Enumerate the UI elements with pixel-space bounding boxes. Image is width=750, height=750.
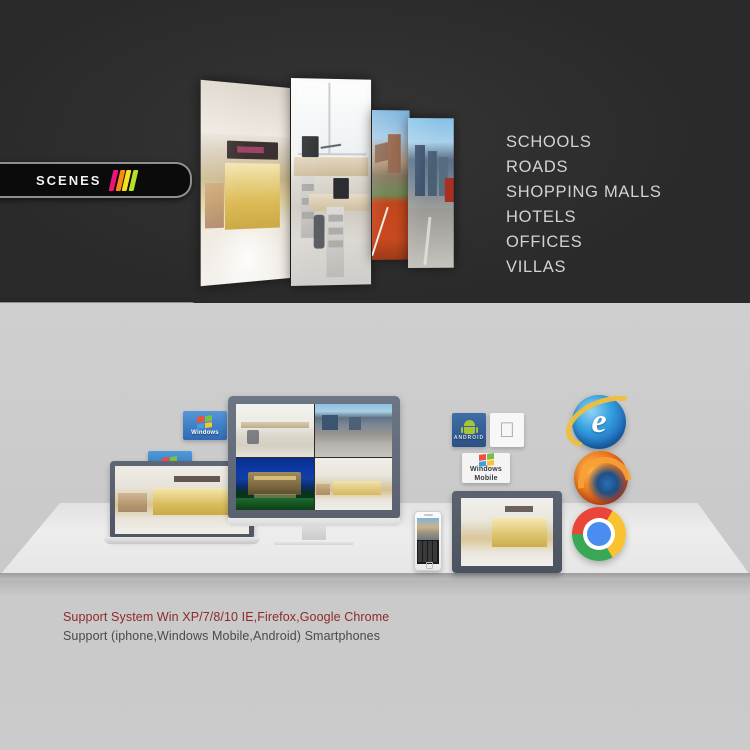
- scenes-ribbon-label: SCENES: [0, 173, 111, 188]
- apple-badge: : [490, 413, 524, 447]
- marketing-infographic: SCHOOLS ROADS SHOPPING MALLS HOTELS OFFI…: [0, 0, 750, 750]
- scene-list-item: VILLAS: [506, 255, 662, 280]
- scene-list-item: SCHOOLS: [506, 130, 662, 155]
- caption-browsers: Support System Win XP/7/8/10 IE,Firefox,…: [63, 608, 389, 627]
- android-robot-icon: [462, 420, 477, 434]
- monitor-chin: [228, 518, 400, 526]
- phone-screen: [417, 518, 439, 564]
- photo-gloss: [201, 80, 290, 286]
- scene-type-list: SCHOOLS ROADS SHOPPING MALLS HOTELS OFFI…: [466, 130, 662, 280]
- laptop-base: [104, 537, 260, 544]
- badge-label: ANDROID: [454, 435, 484, 441]
- monitor-bezel: [228, 396, 400, 518]
- scene-photo-shopping-mall: [201, 80, 290, 286]
- mall-signage: [174, 476, 220, 482]
- phone-video-preview: [417, 518, 439, 540]
- camera-channel-mall: [315, 458, 393, 511]
- badge-label: Windows: [191, 430, 219, 436]
- phone-speaker: [424, 514, 433, 516]
- camera-channel-road: [315, 404, 393, 457]
- monitor-screen-4ch-grid: [236, 404, 392, 510]
- smartphone-device: [414, 511, 442, 571]
- scene-list-item: ROADS: [506, 155, 662, 180]
- camera-channel-villa: [236, 458, 314, 511]
- platform-shadow: [0, 580, 750, 596]
- support-system-section: Windows Windows 7 ANDROID  Windows Mobi…: [0, 303, 750, 750]
- tablet-bezel: [452, 491, 562, 573]
- tablet-screen: [461, 498, 553, 566]
- apple-logo-icon: : [499, 420, 515, 441]
- phone-thumbnail-grid: [418, 541, 438, 562]
- ribbon-accent-bars: [111, 170, 148, 191]
- photo-gloss: [372, 110, 410, 260]
- mall-side-shop: [118, 493, 147, 512]
- monitor-base: [274, 540, 354, 545]
- windows-mobile-badge: Windows Mobile: [462, 453, 510, 483]
- scene-photo-school-track: [372, 110, 410, 260]
- mall-storefront: [492, 518, 547, 547]
- phone-body: [414, 511, 442, 571]
- scene-photo-strip: [196, 76, 456, 286]
- caption-smartphones: Support (iphone,Windows Mobile,Android) …: [63, 627, 389, 646]
- mozilla-firefox-icon: [574, 451, 628, 505]
- platform-edge: [0, 573, 750, 580]
- villa-lawn: [236, 498, 314, 510]
- scenes-ribbon-banner: SCENES: [0, 162, 192, 198]
- villa-building: [248, 472, 301, 495]
- scenes-section: SCHOOLS ROADS SHOPPING MALLS HOTELS OFFI…: [0, 0, 750, 303]
- internet-explorer-icon: e: [572, 395, 626, 449]
- phone-home-button: [426, 562, 433, 569]
- windows-logo-icon: [479, 453, 493, 466]
- scene-list-item: SHOPPING MALLS: [506, 180, 662, 205]
- tablet-device: [452, 491, 562, 573]
- scene-list-item: HOTELS: [506, 205, 662, 230]
- desktop-monitor-device: [228, 396, 400, 536]
- photo-gloss: [291, 78, 371, 286]
- scene-list-item: OFFICES: [506, 230, 662, 255]
- mall-storefront: [153, 488, 236, 515]
- badge-label-line1: Windows: [470, 466, 502, 474]
- camera-channel-office: [236, 404, 314, 457]
- photo-gloss: [408, 118, 454, 268]
- windows-logo-icon: [197, 415, 213, 430]
- google-chrome-icon: [572, 507, 626, 561]
- mall-signage: [505, 506, 533, 511]
- android-badge: ANDROID: [452, 413, 486, 447]
- support-captions: Support System Win XP/7/8/10 IE,Firefox,…: [63, 608, 389, 646]
- windows-xp-badge: Windows: [183, 411, 227, 440]
- badge-label-line2: Mobile: [474, 475, 497, 483]
- scene-photo-city-road: [408, 118, 454, 268]
- scene-photo-office: [291, 78, 371, 286]
